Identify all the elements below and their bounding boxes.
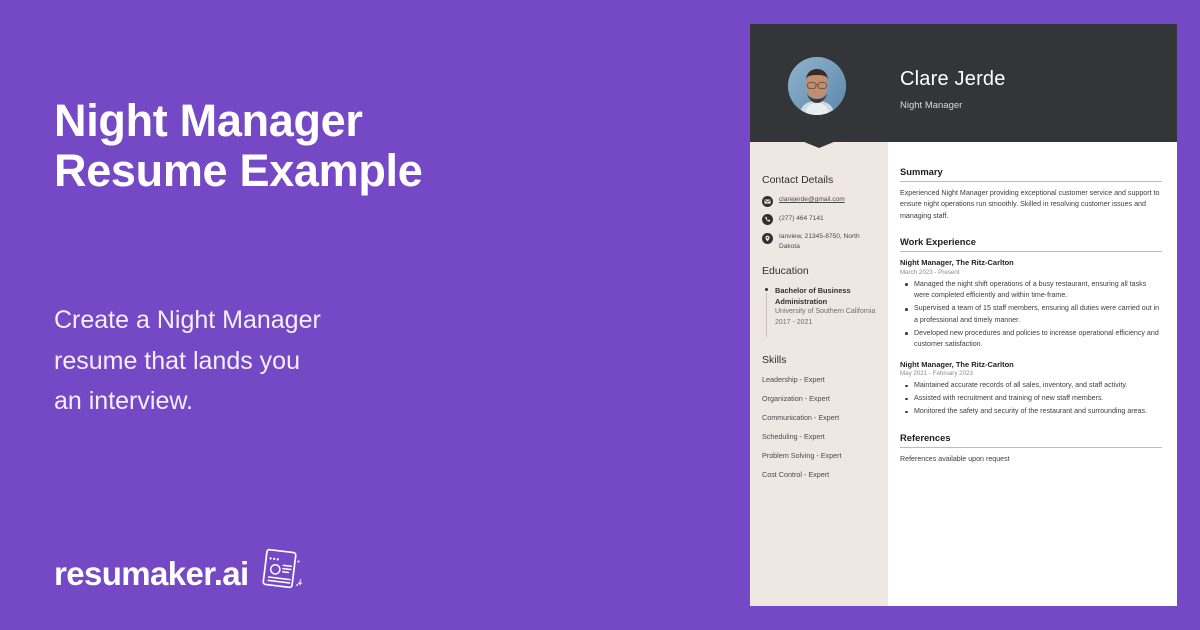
references-heading: References: [900, 432, 1162, 448]
job-dates: March 2023 - Present: [900, 269, 1162, 276]
summary-text: Experienced Night Manager providing exce…: [900, 188, 1162, 222]
contact-details-section: Contact Details clarejerde@gmail.com (27…: [762, 174, 880, 259]
resume-main-content: Summary Experienced Night Manager provid…: [900, 166, 1162, 479]
promo-banner: Night Manager Resume Example Create a Ni…: [0, 0, 1200, 630]
job-entry: Night Manager, The Ritz-Carlton May 2021…: [900, 360, 1162, 418]
job-bullet: Supervised a team of 15 staff members, e…: [900, 303, 1162, 326]
skill-item: Leadership - Expert: [762, 375, 880, 384]
contact-phone-row: (277) 464 7141: [762, 214, 880, 226]
education-item: Bachelor of Business Administration Univ…: [762, 286, 880, 337]
job-bullet-list: Managed the night shift operations of a …: [900, 279, 1162, 351]
job-bullet: Maintained accurate records of all sales…: [900, 380, 1162, 391]
job-bullet-list: Maintained accurate records of all sales…: [900, 380, 1162, 417]
resume-owner-role: Night Manager: [900, 100, 962, 111]
location-pin-icon: [762, 233, 773, 244]
contact-phone: (277) 464 7141: [779, 214, 824, 224]
timeline-dot-icon: [765, 288, 768, 291]
skill-item: Scheduling - Expert: [762, 432, 880, 441]
work-experience-heading: Work Experience: [900, 236, 1162, 252]
education-degree: Bachelor of Business Administration: [775, 286, 880, 307]
job-bullet: Developed new procedures and policies to…: [900, 328, 1162, 351]
contact-address: Ianview, 21345-8750, North Dakota: [779, 232, 880, 252]
work-experience-section: Work Experience Night Manager, The Ritz-…: [900, 236, 1162, 417]
skill-item: Communication - Expert: [762, 413, 880, 422]
contact-details-heading: Contact Details: [762, 174, 880, 186]
contact-email[interactable]: clarejerde@gmail.com: [779, 195, 845, 205]
resume-preview-card[interactable]: Clare Jerde Night Manager Contact Detail…: [750, 24, 1177, 606]
summary-heading: Summary: [900, 166, 1162, 182]
promo-subtitle: Create a Night Manager resume that lands…: [54, 300, 494, 422]
skill-item: Organization - Expert: [762, 394, 880, 403]
job-title: Night Manager, The Ritz-Carlton: [900, 360, 1162, 369]
header-notch: [750, 118, 888, 148]
job-bullet: Monitored the safety and security of the…: [900, 406, 1162, 417]
education-dates: 2017 - 2021: [775, 318, 880, 328]
contact-email-row[interactable]: clarejerde@gmail.com: [762, 195, 880, 207]
education-school: University of Southern California: [775, 307, 880, 317]
promo-panel: Night Manager Resume Example Create a Ni…: [0, 0, 740, 630]
resumaker-logo[interactable]: resumaker.ai: [54, 548, 305, 599]
skill-item: Problem Solving - Expert: [762, 451, 880, 460]
avatar: [788, 57, 846, 115]
references-section: References References available upon req…: [900, 432, 1162, 465]
summary-section: Summary Experienced Night Manager provid…: [900, 166, 1162, 222]
job-bullet: Assisted with recruitment and training o…: [900, 393, 1162, 404]
job-title: Night Manager, The Ritz-Carlton: [900, 258, 1162, 267]
envelope-icon: [762, 196, 773, 207]
timeline-line: [766, 293, 767, 337]
contact-address-row: Ianview, 21345-8750, North Dakota: [762, 232, 880, 252]
logo-wordmark: resumaker.ai: [54, 557, 249, 590]
job-bullet: Managed the night shift operations of a …: [900, 279, 1162, 302]
education-section: Education Bachelor of Business Administr…: [762, 265, 880, 337]
skills-heading: Skills: [762, 354, 880, 366]
education-heading: Education: [762, 265, 880, 277]
page-title: Night Manager Resume Example: [54, 96, 694, 197]
job-entry: Night Manager, The Ritz-Carlton March 20…: [900, 258, 1162, 350]
skill-item: Cost Control - Expert: [762, 470, 880, 479]
job-dates: May 2021 - February 2023: [900, 370, 1162, 377]
resume-owner-name: Clare Jerde: [900, 68, 1006, 91]
phone-icon: [762, 214, 773, 225]
skills-section: Skills Leadership - Expert Organization …: [762, 354, 880, 489]
education-timeline-rail: [762, 286, 771, 337]
resume-document-icon: [253, 542, 305, 599]
references-text: References available upon request: [900, 454, 1162, 465]
